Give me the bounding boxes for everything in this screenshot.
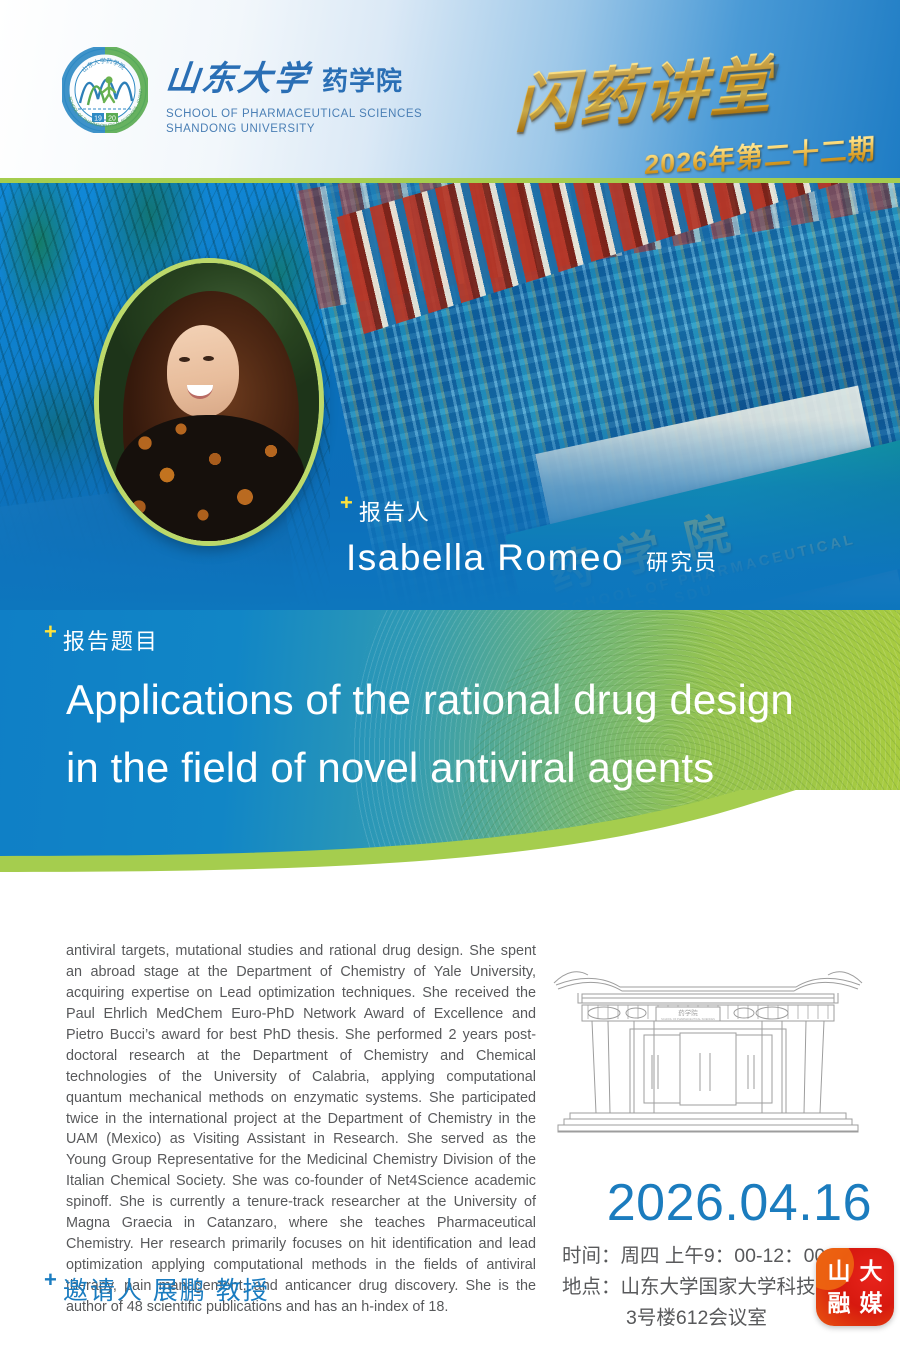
talk-label-row: + 报告题目 — [44, 624, 159, 656]
portrait-eye-right — [203, 356, 214, 361]
portrait-scarf — [115, 415, 305, 546]
svg-text:SCHOOL OF PHARMACEUTICAL SCIEN: SCHOOL OF PHARMACEUTICAL SCIENCES — [661, 1017, 715, 1021]
talk-label: 报告题目 — [63, 624, 159, 656]
speaker-name: Isabella Romeo — [346, 537, 624, 579]
speaker-rank: 研究员 — [646, 545, 718, 577]
brand-en-line1: SCHOOL OF PHARMACEUTICAL SCIENCES — [166, 107, 422, 122]
bio-label-row: + 报告人简介 — [44, 855, 195, 891]
series-issue: 2026年第二十二期 — [644, 127, 876, 182]
svg-text:19: 19 — [94, 115, 102, 122]
sdu-pharmacy-emblem-icon: 19 20 山东大学药学院 SCHOOL OF PHARMACEUTICAL S… — [62, 47, 148, 133]
series-title: 闪药讲堂 — [514, 34, 774, 146]
speaker-portrait — [94, 258, 324, 546]
brand-university-cn: 山东大学 — [163, 51, 312, 100]
speaker-info: + 报告人 Isabella Romeo 研究员 — [340, 495, 718, 579]
plus-icon: + — [340, 492, 353, 514]
pharmacy-gate-line-art-icon: 药学院 SCHOOL OF PHARMACEUTICAL SCIENCES — [548, 963, 868, 1163]
institution-logo: 19 20 山东大学药学院 SCHOOL OF PHARMACEUTICAL S… — [62, 47, 422, 137]
talk-title: Applications of the rational drug design… — [66, 666, 896, 802]
svg-text:20: 20 — [108, 115, 116, 122]
event-date: 2026.04.16 — [607, 1173, 872, 1233]
plus-icon: + — [44, 1269, 57, 1291]
shanda-rongmei-logo-icon: 山 大 融 媒 — [816, 1248, 894, 1326]
bio-paragraph: Isabella Romeo obtained PhD in Life Scie… — [66, 899, 536, 1318]
brand-en-line2: SHANDONG UNIVERSITY — [166, 122, 422, 137]
poster-header: 19 20 山东大学药学院 SCHOOL OF PHARMACEUTICAL S… — [0, 0, 900, 182]
media-logo-char-2: 大 — [860, 1260, 883, 1283]
speaker-label-row: + 报告人 — [340, 495, 718, 527]
institution-wordmark: 山东大学 药学院 SCHOOL OF PHARMACEUTICAL SCIENC… — [166, 47, 422, 137]
media-logo-char-4: 媒 — [860, 1292, 883, 1315]
speaker-label: 报告人 — [359, 495, 431, 527]
header-divider-rule — [0, 178, 900, 183]
bio-label: 报告人简介 — [63, 855, 196, 891]
speaker-name-row: Isabella Romeo 研究员 — [346, 537, 718, 579]
bio-section: + 报告人简介 Isabella Romeo obtained PhD in L… — [0, 863, 900, 1350]
plus-icon: + — [44, 853, 57, 875]
inviter-text: 邀请人 展鹏 教授 — [63, 1271, 270, 1307]
media-logo-char-3: 融 — [828, 1292, 851, 1315]
svg-text:药学院: 药学院 — [678, 1008, 698, 1017]
media-logo-char-1: 山 — [828, 1260, 851, 1283]
plus-icon: + — [44, 621, 57, 643]
inviter-row: + 邀请人 展鹏 教授 — [44, 1271, 270, 1307]
portrait-eye-left — [179, 357, 190, 362]
brand-department-cn: 药学院 — [322, 61, 403, 98]
portrait-face — [167, 325, 239, 417]
series-title-block: 闪药讲堂 2026年第二十二期 — [506, 44, 876, 176]
talk-title-line-2: in the field of novel antiviral agents — [66, 734, 896, 802]
talk-title-line-1: Applications of the rational drug design — [66, 666, 896, 734]
talk-title-band: + 报告题目 Applications of the rational drug… — [0, 610, 900, 863]
poster-root: 19 20 山东大学药学院 SCHOOL OF PHARMACEUTICAL S… — [0, 0, 900, 1350]
